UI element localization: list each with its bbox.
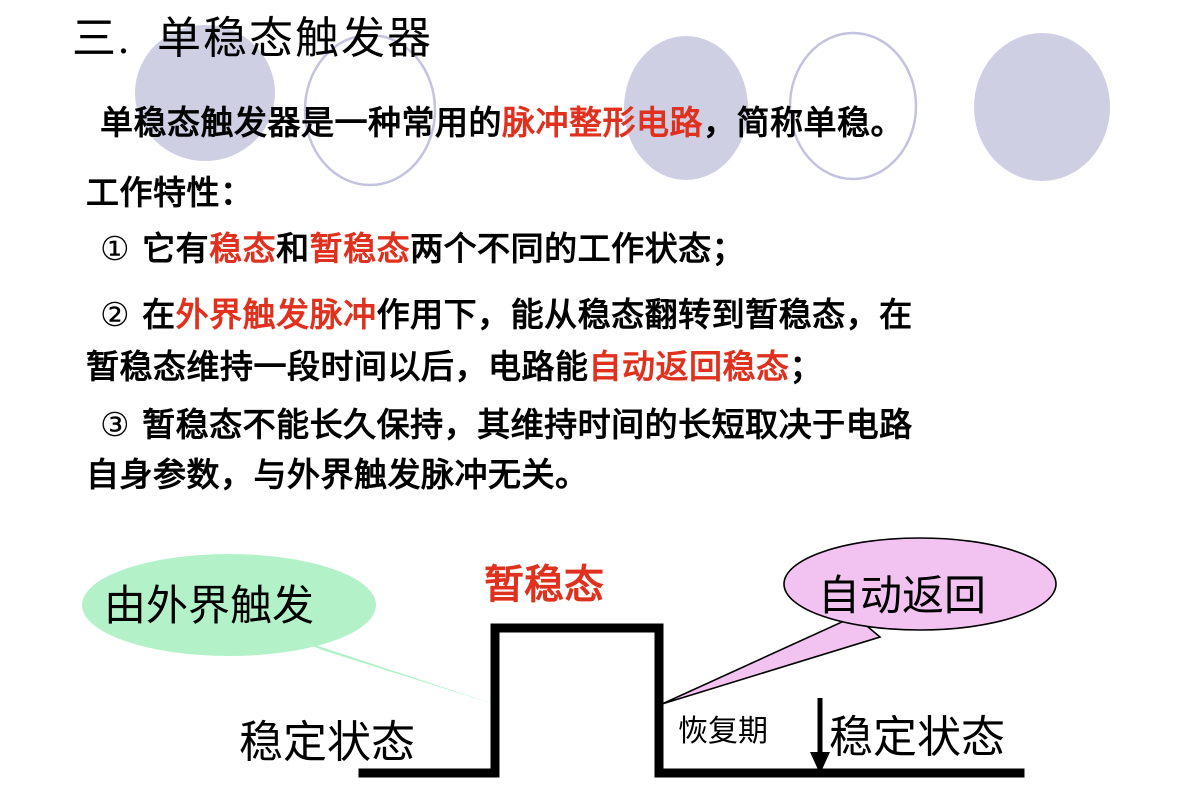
item-1-text-b: 和 xyxy=(276,232,310,268)
item-3-line1-text: 暂稳态不能长久保持，其维持时间的长短取决于电路 xyxy=(142,408,913,444)
item-1-marker: ① xyxy=(100,229,130,268)
item-2-text-b: 作用下，能从稳态翻转到暂稳态，在 xyxy=(377,298,913,334)
item-1-text-a: 它有 xyxy=(142,232,209,268)
slide-canvas: 三.单稳态触发器 单稳态触发器是一种常用的脉冲整形电路，简称单稳。 工作特性： … xyxy=(0,0,1186,800)
item-2-line2-text-a: 暂稳态维持一段时间以后，电路能 xyxy=(86,350,589,386)
stable-state-right-label: 稳定状态 xyxy=(829,701,1005,765)
title-number: 三. xyxy=(72,14,131,63)
feature-item-1: ①它有稳态和暂稳态两个不同的工作状态； xyxy=(100,222,745,270)
deco-ellipse-filled-3 xyxy=(974,33,1110,181)
feature-item-3-line-2: 自身参数，与外界触发脉冲无关。 xyxy=(86,448,589,496)
item-2-line2-text-b: ； xyxy=(790,350,824,386)
features-heading: 工作特性： xyxy=(86,166,254,214)
item-2-marker: ② xyxy=(100,295,130,334)
callout-left-label: 由外界触发 xyxy=(104,572,314,633)
item-2-highlight-1: 外界触发脉冲 xyxy=(176,298,377,334)
pulse-state-label: 暂稳态 xyxy=(484,552,604,610)
intro-paragraph: 单稳态触发器是一种常用的脉冲整形电路，简称单稳。 xyxy=(100,96,904,144)
item-2-line2-highlight: 自动返回稳态 xyxy=(589,350,790,386)
feature-item-3-line-1: ③暂稳态不能长久保持，其维持时间的长短取决于电路 xyxy=(100,398,913,446)
intro-highlight: 脉冲整形电路 xyxy=(502,106,703,142)
intro-text-a: 单稳态触发器是一种常用的 xyxy=(100,106,502,142)
item-3-marker: ③ xyxy=(100,405,130,444)
feature-item-2-line-2: 暂稳态维持一段时间以后，电路能自动返回稳态； xyxy=(86,340,823,388)
item-2-text-a: 在 xyxy=(142,298,176,334)
intro-text-b: ，简称单稳。 xyxy=(703,106,904,142)
callout-right-label: 自动返回 xyxy=(818,562,986,623)
item-1-text-c: 两个不同的工作状态； xyxy=(410,232,745,268)
callout-right-tail xyxy=(662,616,880,704)
recovery-period-label: 恢复期 xyxy=(678,706,768,750)
item-1-highlight-2: 暂稳态 xyxy=(310,232,411,268)
feature-item-2-line-1: ②在外界触发脉冲作用下，能从稳态翻转到暂稳态，在 xyxy=(100,288,913,336)
item-1-highlight-1: 稳态 xyxy=(209,232,276,268)
stable-state-left-label: 稳定状态 xyxy=(239,706,415,770)
title-text: 单稳态触发器 xyxy=(157,14,433,63)
page-title: 三.单稳态触发器 xyxy=(72,2,433,66)
